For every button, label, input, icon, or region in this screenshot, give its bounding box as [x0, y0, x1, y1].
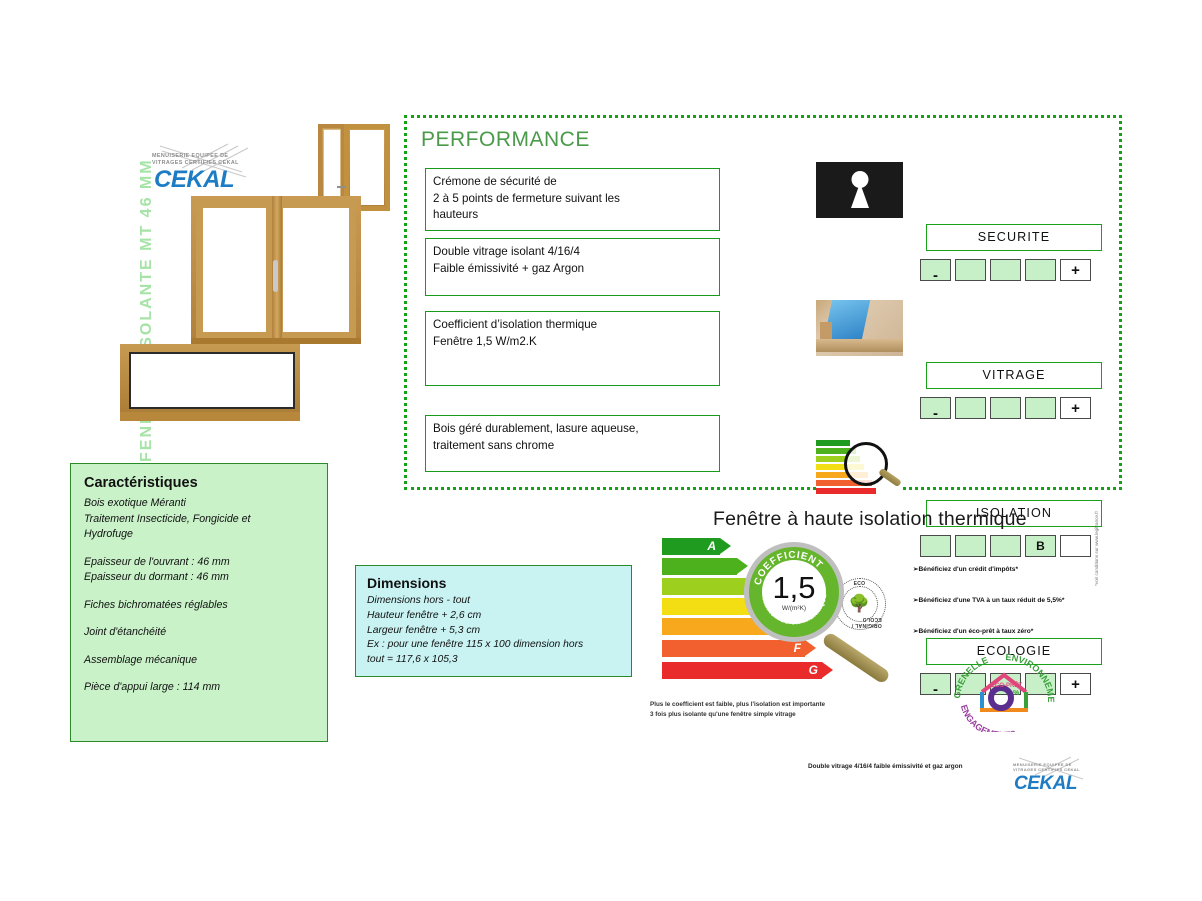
caracteristiques-line-4: Epaisseur de l'ouvrant : 46 mm	[84, 555, 314, 571]
caracteristiques-line-13: Pièce d'appui large : 114 mm	[84, 680, 314, 696]
coefficient-unit: W/(m²K)	[782, 605, 806, 612]
energy-band-A-label: A	[707, 538, 716, 555]
promo-bullet-1: ➢Bénéficiez d'une TVA à un taux réduit d…	[913, 596, 1064, 605]
grenelle-badge-text: ECO-PRÊT	[991, 681, 1022, 689]
caracteristiques-line-1: Traitement Insecticide, Fongicide et	[84, 512, 314, 528]
energy-label-chart: A F G	[662, 538, 892, 698]
energy-band-C	[662, 578, 754, 595]
rating-cell-securite-1[interactable]: -	[920, 259, 951, 281]
caracteristiques-line-5: Epaisseur du dormant : 46 mm	[84, 570, 314, 586]
rating-label-vitrage[interactable]: VITRAGE	[926, 362, 1102, 389]
performance-box-bois: Bois géré durablement, lasure aqueuse, t…	[425, 415, 720, 472]
rating-cell-isolation-1[interactable]	[920, 535, 951, 557]
performance-box-coefficient-line1: Coefficient d’isolation thermique	[433, 317, 712, 334]
energy-band-A: A	[662, 538, 720, 555]
performance-box-cremone-line2: 2 à 5 points de fermeture suivant les	[433, 191, 712, 208]
rating-cell-securite-4[interactable]	[1025, 259, 1056, 281]
cekal-bottom-brand: CEKAL	[1014, 773, 1077, 795]
promo-bullet-0: ➢Bénéficiez d'un crédit d'impôts*	[913, 565, 1064, 574]
performance-box-cremone-line3: hauteurs	[433, 207, 712, 224]
energy-label-note-line2: 3 fois plus isolante qu'une fenêtre simp…	[650, 710, 825, 720]
caracteristiques-line-11: Assemblage mécanique	[84, 653, 314, 669]
caracteristiques-title: Caractéristiques	[84, 475, 314, 491]
performance-box-coefficient: Coefficient d’isolation thermique Fenêtr…	[425, 311, 720, 386]
promo-bullets: ➢Bénéficiez d'un crédit d'impôts* ➢Bénéf…	[913, 565, 1064, 658]
dimensions-box: Dimensions Dimensions hors - tout Hauteu…	[355, 565, 632, 677]
dimensions-title: Dimensions	[367, 575, 620, 591]
rating-cell-vitrage-4[interactable]	[1025, 397, 1056, 419]
window-glazing-icon	[816, 300, 903, 356]
caracteristiques-line-7: Fiches bichromatées réglables	[84, 598, 314, 614]
window-photo-double-casement	[191, 196, 361, 344]
promo-side-note: *voir conditions sur www.legifrance.fr	[1094, 511, 1099, 586]
performance-box-coefficient-line2: Fenêtre 1,5 W/m2.K	[433, 334, 712, 351]
dimensions-line-1: Hauteur fenêtre + 2,6 cm	[367, 609, 620, 624]
keyhole-icon	[816, 162, 903, 218]
bottom-footnote: Double vitrage 4/16/4 faible émissivité …	[808, 763, 963, 770]
energy-band-F: F	[662, 640, 805, 657]
rating-label-securite[interactable]: SECURITE	[926, 224, 1102, 251]
rating-cell-ecologie-1[interactable]: -	[920, 673, 951, 695]
rating-cell-vitrage-3[interactable]	[990, 397, 1021, 419]
performance-box-cremone: Crémone de sécurité de 2 à 5 points de f…	[425, 168, 720, 231]
caracteristiques-line-9: Joint d'étanchéité	[84, 625, 314, 641]
rating-cell-isolation-4[interactable]: B	[1025, 535, 1056, 557]
rating-cell-ecologie-5[interactable]: +	[1060, 673, 1091, 695]
performance-box-vitrage-line2: Faible émissivité + gaz Argon	[433, 261, 712, 278]
rating-cell-isolation-3[interactable]	[990, 535, 1021, 557]
performance-box-bois-line2: traitement sans chrome	[433, 438, 712, 455]
cekal-certification-line1: MENUISERIE EQUIPEE DE	[152, 153, 228, 159]
grenelle-logo-graphic: GRENELLE ENVIRONNEMENT ENGAGEMENTS ECO-P…	[952, 648, 1056, 732]
performance-box-vitrage-line1: Double vitrage isolant 4/16/4	[433, 244, 712, 261]
rating-cell-securite-3[interactable]	[990, 259, 1021, 281]
rating-cell-vitrage-2[interactable]	[955, 397, 986, 419]
performance-box-vitrage: Double vitrage isolant 4/16/4 Faible émi…	[425, 238, 720, 296]
rating-cell-vitrage-5[interactable]: +	[1060, 397, 1091, 419]
energy-band-G-label: G	[809, 662, 818, 679]
caracteristiques-line-2: Hydrofuge	[84, 527, 314, 543]
cekal-brand-text: CEKAL	[154, 166, 234, 194]
coefficient-value: 1,5	[772, 573, 815, 603]
grenelle-environnement-logo: GRENELLE ENVIRONNEMENT ENGAGEMENTS ECO-P…	[952, 648, 1056, 732]
energy-band-B	[662, 558, 737, 575]
rating-cell-vitrage-1[interactable]: -	[920, 397, 951, 419]
coefficient-badge: COEFFICIENT TRANSMISSION THERMIQUE 1,5 W…	[744, 542, 844, 642]
rating-cell-securite-5[interactable]: +	[1060, 259, 1091, 281]
window-photo-transom	[120, 344, 300, 421]
dimensions-line-2: Largeur fenêtre + 5,3 cm	[367, 624, 620, 639]
energy-band-F-label: F	[794, 640, 801, 657]
product-sheet-page: FENETRES ISOLANTE MT 46 MM MENUISERIE EQ…	[0, 0, 1202, 901]
promo-title: Fenêtre à haute isolation thermique	[713, 508, 1027, 531]
performance-panel: PERFORMANCE Crémone de sécurité de 2 à 5…	[404, 115, 1122, 490]
performance-title: PERFORMANCE	[421, 128, 590, 152]
promo-bullet-2: ➢Bénéficiez d'un éco-prêt à taux zéro*	[913, 627, 1064, 636]
cekal-logo-top: MENUISERIE EQUIPEE DE VITRAGES CERTIFIES…	[142, 142, 260, 198]
performance-box-cremone-line1: Crémone de sécurité de	[433, 174, 712, 191]
energy-label-note-line1: Plus le coefficient est faible, plus l'i…	[650, 700, 825, 710]
cekal-logo-bottom: MENUISERIE EQUIPEE DE VITRAGES CERTIFIES…	[1005, 755, 1095, 799]
rating-cell-isolation-5[interactable]	[1060, 535, 1091, 557]
performance-box-bois-line1: Bois géré durablement, lasure aqueuse,	[433, 421, 712, 438]
energy-band-G: G	[662, 662, 822, 679]
rating-cell-isolation-2[interactable]	[955, 535, 986, 557]
rating-cell-securite-2[interactable]	[955, 259, 986, 281]
dimensions-line-0: Dimensions hors - tout	[367, 594, 620, 609]
dimensions-line-3: Ex : pour une fenêtre 115 x 100 dimensio…	[367, 638, 620, 653]
energy-magnifier-icon	[816, 438, 903, 494]
caracteristiques-line-0: Bois exotique Méranti	[84, 496, 314, 512]
dimensions-line-4: tout = 117,6 x 105,3	[367, 653, 620, 668]
energy-label-note: Plus le coefficient est faible, plus l'i…	[650, 700, 825, 719]
grenelle-badge-pct: %	[1013, 690, 1020, 697]
caracteristiques-box: Caractéristiques Bois exotique Méranti T…	[70, 463, 328, 742]
